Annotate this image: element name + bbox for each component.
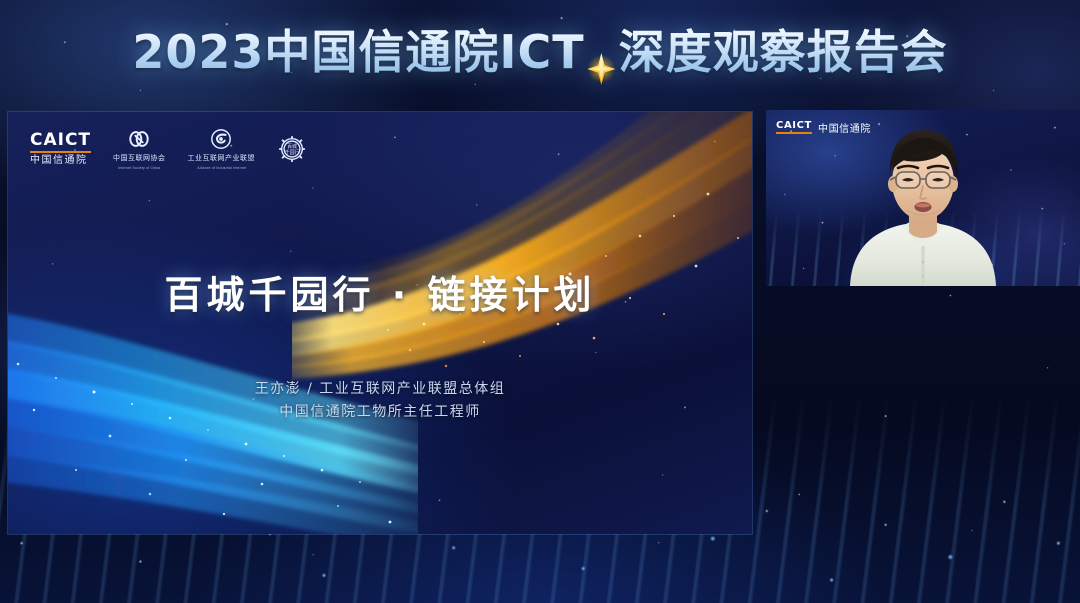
aii-swirl-icon bbox=[210, 128, 232, 150]
banner-title-suffix: 深度观察报告会 bbox=[619, 25, 948, 79]
logo-aii: 工业互联网产业联盟 Alliance of Industrial Interne… bbox=[188, 128, 256, 170]
presentation-slide[interactable]: CAICT 中国信通院 中国互联网协会 Internet Society of … bbox=[8, 112, 752, 534]
logo-internet-society-china: 中国互联网协会 Internet Society of China bbox=[113, 128, 166, 170]
caict-chinese-name: 中国信通院 bbox=[30, 156, 88, 166]
svg-text:百城: 百城 bbox=[287, 143, 297, 150]
speaker-video-panel[interactable]: CAICT 中国信通院 bbox=[766, 110, 1080, 286]
caict-wordmark: CAICT bbox=[30, 132, 91, 149]
svg-text:千园行: 千园行 bbox=[285, 149, 300, 156]
aii-english-name: Alliance of Industrial Internet bbox=[197, 166, 246, 170]
slide-main-title: 百城千园行 · 链接计划 bbox=[8, 264, 752, 319]
aii-chinese-name: 工业互联网产业联盟 bbox=[188, 153, 256, 163]
isc-chinese-name: 中国互联网协会 bbox=[113, 153, 166, 163]
slide-logo-strip: CAICT 中国信通院 中国互联网协会 Internet Society of … bbox=[30, 128, 307, 170]
slide-subtitle-line-2: 中国信通院工物所主任工程师 bbox=[8, 401, 752, 423]
video-watermark-caict: CAICT bbox=[776, 121, 812, 134]
page-title: 2023中国信通院ICT bbox=[132, 16, 947, 82]
video-watermark-rule bbox=[776, 132, 812, 134]
slide-subtitle-line-1: 王亦澎 / 工业互联网产业联盟总体组 bbox=[8, 378, 752, 400]
logo-baicheng-qianyuan: 百城 千园行 bbox=[277, 134, 307, 164]
video-watermark-chinese: 中国信通院 bbox=[818, 120, 871, 135]
slide-subtitle: 王亦澎 / 工业互联网产业联盟总体组 中国信通院工物所主任工程师 bbox=[8, 378, 752, 423]
isc-knot-icon bbox=[128, 128, 150, 150]
gear-badge-icon: 百城 千园行 bbox=[277, 134, 307, 164]
logo-caict: CAICT 中国信通院 bbox=[30, 132, 91, 167]
four-point-star-icon bbox=[587, 52, 617, 86]
speaker-figure bbox=[766, 110, 1080, 286]
banner-title-prefix: 2023中国信通院ICT bbox=[132, 25, 584, 79]
event-header: 2023中国信通院ICT bbox=[0, 0, 1080, 108]
caict-accent-rule bbox=[30, 151, 91, 154]
isc-english-name: Internet Society of China bbox=[118, 166, 160, 170]
video-watermark-wordmark: CAICT bbox=[776, 121, 812, 131]
video-watermark: CAICT 中国信通院 bbox=[776, 120, 871, 135]
broadcast-stage: 2023中国信通院ICT bbox=[0, 0, 1080, 603]
